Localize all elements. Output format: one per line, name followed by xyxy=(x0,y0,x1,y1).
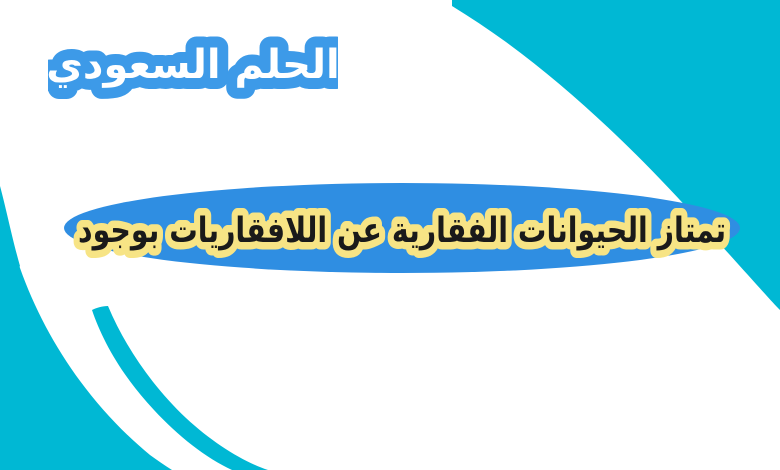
headline-artwork: تمتاز الحيوانات الفقارية عن اللافقاريات … xyxy=(60,180,744,276)
logo-artwork: الحلم السعودي الحلم السعودي xyxy=(48,28,338,102)
graphic-canvas: الحلم السعودي الحلم السعودي تمتاز الحيوا… xyxy=(0,0,780,470)
headline-band: تمتاز الحيوانات الفقارية عن اللافقاريات … xyxy=(60,180,744,276)
headline-text: تمتاز الحيوانات الفقارية عن اللافقاريات … xyxy=(78,211,726,251)
logo-text: الحلم السعودي xyxy=(48,42,338,88)
site-logo[interactable]: الحلم السعودي الحلم السعودي xyxy=(48,28,338,102)
